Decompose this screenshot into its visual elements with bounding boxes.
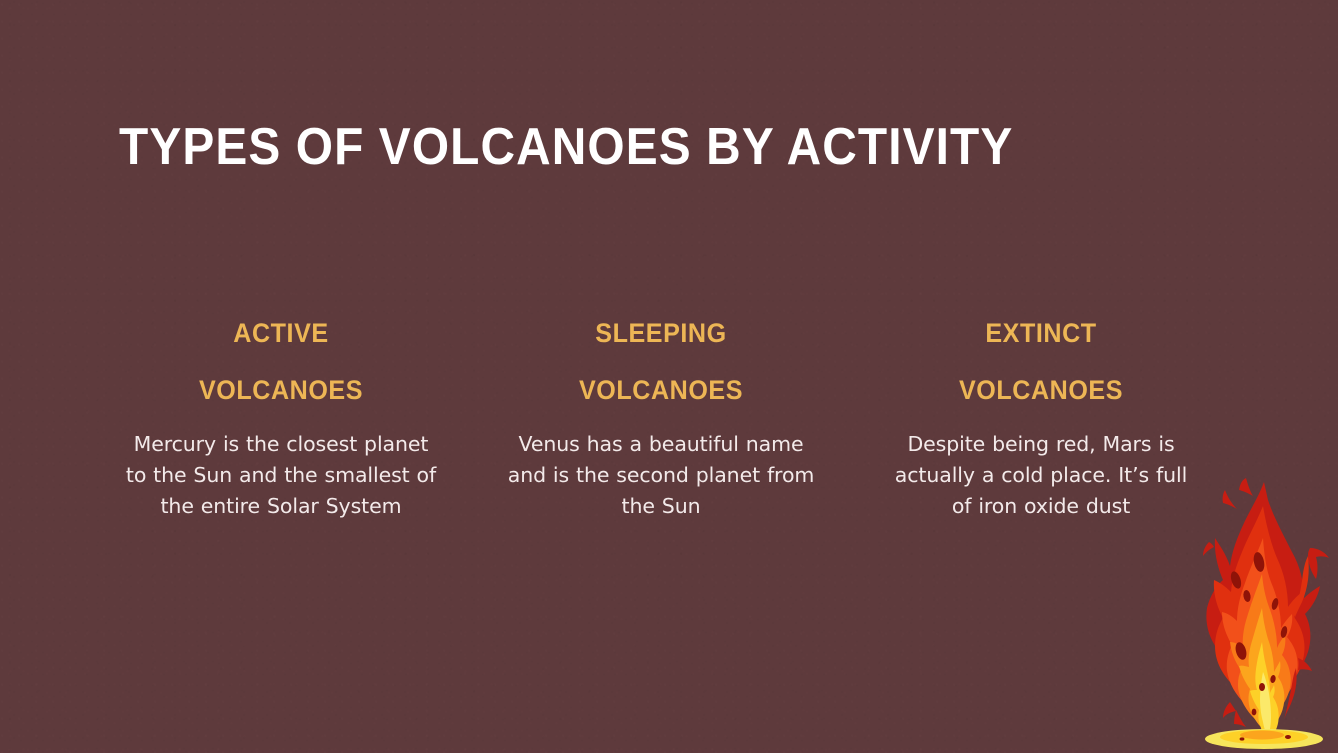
column-active-volcanoes: ACTIVE VOLCANOES Mercury is the closest …: [122, 305, 440, 543]
column-body-text: Venus has a beautiful name and is the se…: [502, 429, 820, 522]
column-extinct-volcanoes: EXTINCT VOLCANOES Despite being red, Mar…: [882, 305, 1200, 543]
column-heading-line-1: EXTINCT: [893, 305, 1189, 362]
column-heading-line-1: SLEEPING: [513, 305, 809, 362]
column-heading: SLEEPING VOLCANOES: [513, 305, 809, 419]
slide-canvas: TYPES OF VOLCANOES BY ACTIVITY ACTIVE VO…: [0, 0, 1338, 753]
column-body-text: Despite being red, Mars is actually a co…: [882, 429, 1200, 522]
page-title: TYPES OF VOLCANOES BY ACTIVITY: [119, 121, 1013, 173]
column-sleeping-volcanoes: SLEEPING VOLCANOES Venus has a beautiful…: [502, 305, 820, 543]
column-heading-line-2: VOLCANOES: [513, 362, 809, 419]
column-heading-line-2: VOLCANOES: [893, 362, 1189, 419]
columns-container: ACTIVE VOLCANOES Mercury is the closest …: [122, 305, 1216, 543]
column-body-text: Mercury is the closest planet to the Sun…: [122, 429, 440, 522]
column-heading: ACTIVE VOLCANOES: [133, 305, 429, 419]
column-heading-line-2: VOLCANOES: [133, 362, 429, 419]
flame-icon: [1192, 476, 1338, 753]
column-heading-line-1: ACTIVE: [133, 305, 429, 362]
column-heading: EXTINCT VOLCANOES: [893, 305, 1189, 419]
